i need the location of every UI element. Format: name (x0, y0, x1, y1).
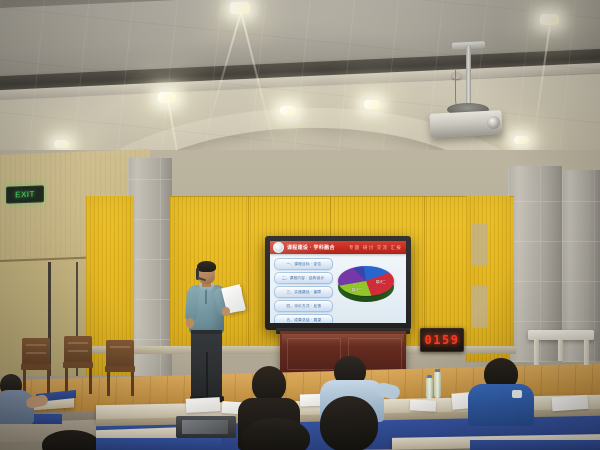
ceiling-light-2 (158, 92, 176, 103)
lecture-hall-photo: EXIT 0159 课程建设 · 学科融合 专题 研讨 交流 汇报 (0, 0, 600, 450)
paper-7 (410, 399, 437, 411)
ceiling-light-6 (514, 136, 529, 144)
yellow-panel-seam-2 (330, 196, 331, 238)
ceiling-light-1 (230, 2, 250, 14)
presenter-arm-left (185, 288, 199, 323)
side-table-leg-3 (558, 339, 563, 361)
yellow-panel-seam-1 (248, 196, 249, 346)
ceiling-light-5 (540, 14, 559, 25)
paper-6 (552, 395, 589, 411)
chair-back (22, 338, 50, 364)
chair-slat (68, 342, 88, 344)
slide-body: 一、课程目标 · 定位 二、课程内容 · 结构设计 三、实施路径 · 保障 四、… (270, 254, 406, 323)
yellow-panel-seam-4 (170, 196, 514, 197)
audience-body (468, 384, 534, 426)
slide-bullet-3: 三、实施路径 · 保障 (274, 286, 333, 298)
presenter-belt (191, 330, 222, 334)
presenter-hair (197, 261, 216, 272)
slide-bullet-5-label: 五、成果总结 · 展望 (286, 317, 321, 323)
timer-digits: 0159 (425, 333, 460, 347)
ceiling-light-4 (364, 100, 380, 109)
left-door-jamb-2 (76, 262, 78, 392)
ceiling-light-7 (54, 140, 69, 148)
exit-sign-label: EXIT (15, 190, 35, 200)
pie-slice-label-2: 模块二 (376, 279, 386, 284)
audience-head (252, 366, 286, 402)
display-screen: 课程建设 · 学科融合 专题 研讨 交流 汇报 一、课程目标 · 定位 二、课程… (270, 241, 406, 323)
front-desk-left-panel (96, 438, 222, 450)
chair-slat-2 (26, 352, 46, 354)
paper-1 (186, 397, 221, 413)
audience-shirt-logo (512, 390, 522, 398)
side-table-leg-2 (584, 339, 589, 365)
slide-header: 课程建设 · 学科融合 专题 研讨 交流 汇报 (270, 241, 406, 254)
chair-slat-2 (68, 350, 88, 352)
chair-back (64, 336, 92, 362)
audience-head (242, 418, 310, 450)
device-screen (182, 420, 228, 434)
slide-bullet-2: 二、课程内容 · 结构设计 (274, 272, 333, 284)
slide: 课程建设 · 学科融合 专题 研讨 交流 汇报 一、课程目标 · 定位 二、课程… (270, 241, 406, 323)
water-bottle-1 (434, 372, 441, 398)
slide-bullet-1-label: 一、课程目标 · 定位 (286, 261, 321, 267)
slide-bullet-1: 一、课程目标 · 定位 (274, 258, 333, 270)
audience-head (320, 396, 378, 450)
front-desk-right-panel (470, 440, 600, 450)
chair-slat (110, 346, 130, 348)
ceiling-light-3 (280, 106, 296, 115)
slide-bullet-4-label: 四、评价方式 · 反馈 (286, 303, 321, 309)
presenter-leg-split (206, 352, 208, 398)
yellow-panel-seam-3 (424, 196, 425, 346)
side-table-leg-1 (534, 339, 539, 365)
slide-bullet-3-label: 三、实施路径 · 保障 (286, 289, 321, 295)
presenter-hand-left (186, 318, 194, 328)
chair-slat (26, 344, 46, 346)
chair-leg-2 (131, 372, 134, 396)
water-bottle-2 (426, 378, 433, 399)
slide-bullet-2-label: 二、课程内容 · 结构设计 (282, 275, 324, 281)
slide-title: 课程建设 · 学科融合 (287, 244, 335, 251)
chair-leg-2 (89, 368, 92, 394)
wall-accent-panel-right-2 (472, 286, 488, 328)
presentation-display[interactable]: 课程建设 · 学科融合 专题 研讨 交流 汇报 一、课程目标 · 定位 二、课程… (265, 236, 411, 330)
yellow-wall-right-stripes (466, 196, 510, 362)
podium-panel-left (287, 338, 341, 370)
water-bottle-2-cap (427, 375, 432, 378)
chair-back (106, 340, 134, 366)
presenter-hand-right (222, 307, 230, 316)
presenter-shirt-placket (205, 290, 207, 304)
chair-leg-1 (107, 372, 110, 396)
water-bottle-1-cap (435, 369, 440, 372)
slide-bullet-list: 一、课程目标 · 定位 二、课程内容 · 结构设计 三、实施路径 · 保障 四、… (274, 258, 333, 323)
ceiling-tile-grid (0, 0, 600, 165)
slide-bullet-5: 五、成果总结 · 展望 (274, 314, 333, 323)
wall-accent-panel-right (472, 224, 488, 266)
school-emblem-icon (273, 242, 284, 253)
pie-slice-label-3: 模块三 (352, 287, 362, 292)
pie-chart: 模块二 模块三 (338, 262, 394, 306)
slide-bullet-4: 四、评价方式 · 反馈 (274, 300, 333, 312)
countdown-timer-display: 0159 (420, 328, 464, 352)
slide-subtitle: 专题 研讨 交流 汇报 (349, 245, 402, 251)
slide-chart-area: 模块二 模块三 (336, 258, 402, 323)
exit-sign: EXIT (6, 185, 44, 203)
